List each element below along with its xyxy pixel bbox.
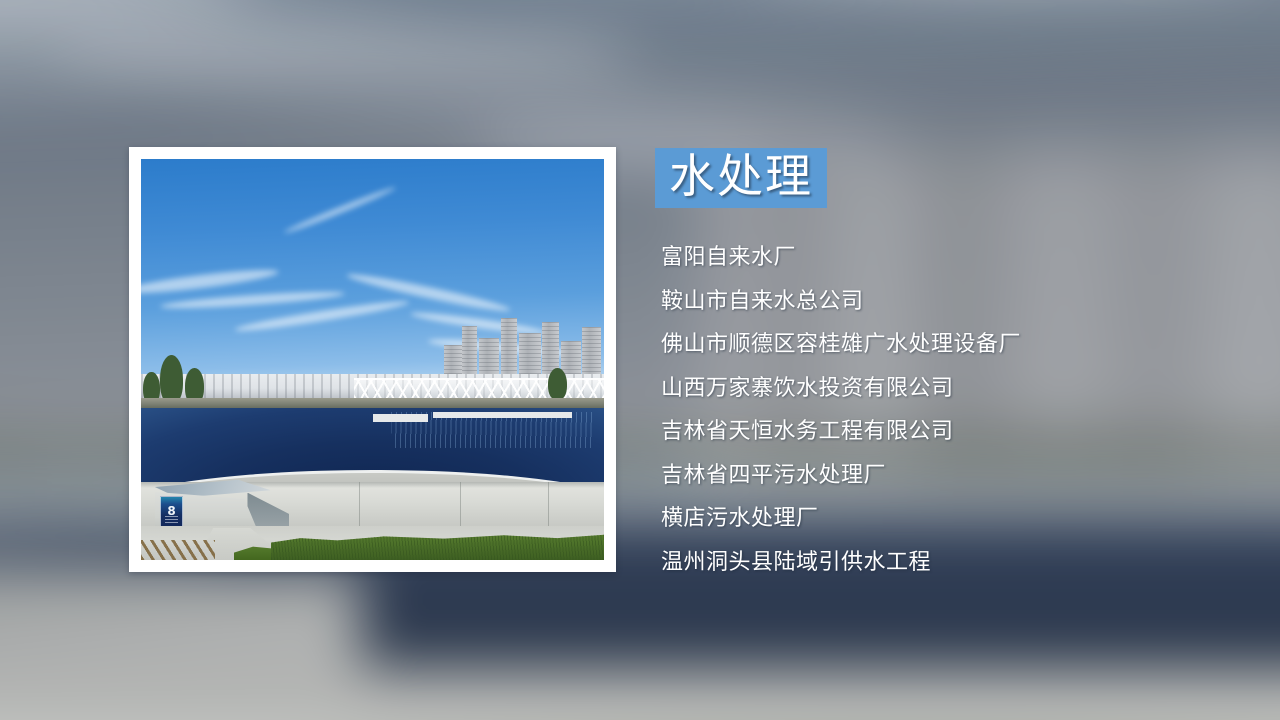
reference-list: 富阳自来水厂 鞍山市自来水总公司 佛山市顺德区容桂雄广水处理设备厂 山西万家寨饮… xyxy=(661,236,1215,584)
photo-pier xyxy=(433,412,572,418)
list-item: 佛山市顺德区容桂雄广水处理设备厂 xyxy=(661,323,1215,367)
photo-wall-seam xyxy=(548,482,549,528)
photo-sign-text-lines xyxy=(165,516,178,524)
photo-wall-seam xyxy=(460,482,461,528)
photo-info-sign: 8 xyxy=(160,496,182,528)
list-item: 吉林省天恒水务工程有限公司 xyxy=(661,410,1215,454)
photo-drain-grate xyxy=(141,540,215,560)
page-title: 水处理 xyxy=(669,152,813,200)
list-item: 富阳自来水厂 xyxy=(661,236,1215,280)
photo-image: 8 xyxy=(141,159,604,560)
photo-pier xyxy=(373,414,429,423)
photo-tree xyxy=(160,355,183,403)
slide-canvas: 8 水处理 富阳自来水厂 鞍山市自来水总公司 佛山市顺德区容桂雄广水处理设备厂 … xyxy=(0,0,1280,720)
background-cloud-2 xyxy=(50,23,640,82)
photo-tree xyxy=(548,368,567,400)
photo-wall-seam xyxy=(359,482,360,528)
slide-content: 水处理 富阳自来水厂 鞍山市自来水总公司 佛山市顺德区容桂雄广水处理设备厂 山西… xyxy=(655,148,1215,584)
title-highlight-box: 水处理 xyxy=(655,148,827,208)
background-curb xyxy=(0,692,1280,706)
list-item: 横店污水处理厂 xyxy=(661,497,1215,541)
list-item: 温州洞头县陆域引供水工程 xyxy=(661,541,1215,585)
photo-frame: 8 xyxy=(129,147,616,572)
list-item: 吉林省四平污水处理厂 xyxy=(661,454,1215,498)
list-item: 山西万家寨饮水投资有限公司 xyxy=(661,367,1215,411)
photo-sign-number: 8 xyxy=(161,505,181,517)
list-item: 鞍山市自来水总公司 xyxy=(661,280,1215,324)
